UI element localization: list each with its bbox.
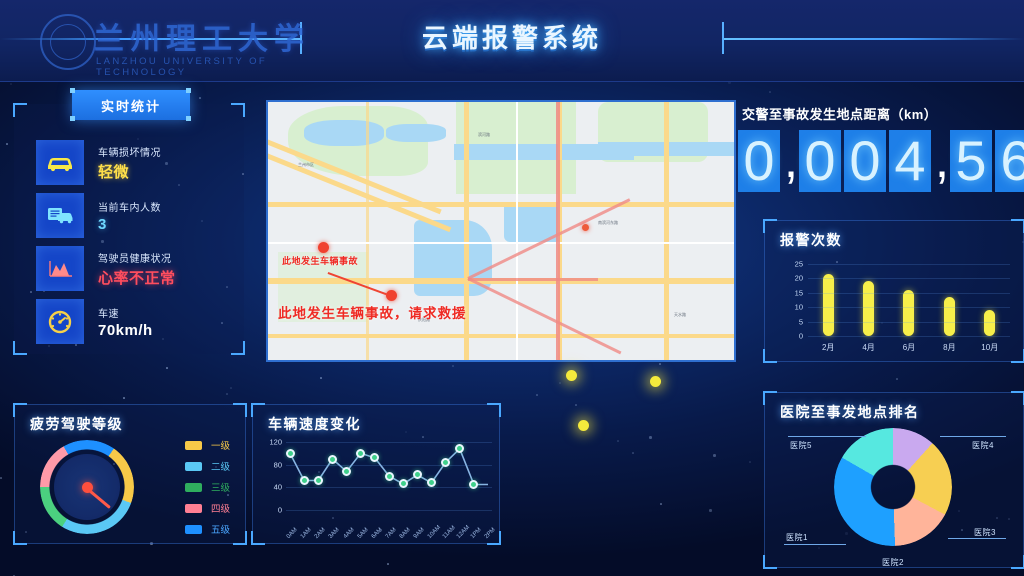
alarm-bars	[808, 264, 1010, 336]
alarm-count-panel: 报警次数 0510152025 2月4月6月8月10月	[764, 220, 1024, 362]
legend-swatch-icon	[185, 441, 202, 450]
bar-column	[984, 264, 995, 336]
x-tick-label: 12AM	[455, 525, 470, 540]
x-tick-label: 7AM	[385, 527, 398, 540]
heading-node-br	[186, 116, 191, 121]
bar	[903, 290, 914, 336]
corner-tl	[763, 219, 777, 233]
bar-column	[944, 264, 955, 336]
data-point[interactable]	[300, 476, 309, 485]
x-tick-label: 6月	[894, 342, 924, 353]
legend-swatch-icon	[185, 525, 202, 534]
y-tick-label: 5	[799, 317, 803, 326]
gridline	[808, 278, 1010, 279]
stat-row-vehicle-damage: 车辆损坏情况 轻微	[36, 138, 232, 187]
accident-pin-icon[interactable]	[386, 290, 397, 301]
x-tick-label: 6AM	[371, 527, 384, 540]
heading-node-tl	[70, 88, 75, 93]
speedometer-icon	[36, 299, 84, 344]
hospital-ranking-panel: 医院至事发地点排名 医院5 医院4 医院3 医院1 医院2	[764, 392, 1024, 568]
bar	[984, 310, 995, 336]
x-tick-label: 4月	[854, 342, 884, 353]
x-tick-label: 1PM	[470, 527, 483, 540]
distance-digits: 0,004,567	[738, 130, 1024, 192]
stat-label: 车辆损坏情况	[98, 144, 161, 159]
glow-dot-1	[566, 370, 577, 381]
map-alert-secondary: 此地发生车辆事故	[282, 254, 358, 267]
stats-rows: 车辆损坏情况 轻微 当前车内人数	[36, 138, 232, 350]
heartrate-icon	[36, 246, 84, 291]
fatigue-level-panel: 疲劳驾驶等级 一级二级三级四级五级	[14, 404, 246, 544]
gauge-hub-icon	[82, 482, 93, 493]
hospital-label-4: 医院4	[972, 440, 994, 451]
legend-label: 四级	[211, 501, 230, 515]
stat-row-driver-health: 驾驶员健康状况 心率不正常	[36, 244, 232, 293]
legend-swatch-icon	[185, 483, 202, 492]
speed-plot-area: 04080120	[286, 442, 492, 510]
corner-tr	[1011, 391, 1024, 405]
legend-label: 二级	[211, 459, 230, 473]
legend-item-3[interactable]: 三级	[185, 480, 230, 494]
stat-label: 当前车内人数	[98, 199, 161, 214]
corner-tl	[763, 391, 777, 405]
data-point[interactable]	[385, 472, 394, 481]
legend-item-2[interactable]: 二级	[185, 459, 230, 473]
stat-row-passenger-count: 当前车内人数 3	[36, 191, 232, 240]
data-point[interactable]	[441, 458, 450, 467]
y-tick-label: 80	[274, 460, 282, 469]
data-point[interactable]	[328, 455, 337, 464]
hospital-chart-title: 医院至事发地点排名	[780, 402, 920, 422]
dashboard-root: 兰州理工大学 LANZHOU UNIVERSITY OF TECHNOLOGY …	[0, 0, 1024, 576]
stat-label: 驾驶员健康状况	[98, 250, 176, 265]
legend-label: 三级	[211, 480, 230, 494]
distance-digit-3: 0	[844, 130, 886, 192]
distance-separator: ,	[783, 130, 799, 192]
corner-tr	[487, 403, 501, 417]
x-tick-label: 3AM	[328, 527, 341, 540]
corner-br	[1011, 349, 1024, 363]
distance-label: 交警至事故发生地点距离（km）	[742, 104, 937, 123]
university-name-en: LANZHOU UNIVERSITY OF TECHNOLOGY	[96, 56, 344, 78]
legend-label: 五级	[211, 522, 230, 536]
heading-node-tr	[186, 88, 191, 93]
x-tick-label: 10月	[975, 342, 1005, 353]
gridline	[286, 465, 492, 466]
legend-swatch-icon	[185, 462, 202, 471]
hospital-label-5: 医院5	[790, 440, 812, 451]
callout-line-h4	[940, 436, 1006, 437]
corner-tl	[251, 403, 265, 417]
corner-tl	[13, 403, 27, 417]
x-tick-label: 8月	[934, 342, 964, 353]
fatigue-legend: 一级二级三级四级五级	[185, 438, 230, 543]
speed-x-axis: 0AM1AM2AM3AM4AM5AM6AM7AM8AM9AM10AM11AM12…	[286, 512, 492, 540]
y-tick-label: 15	[795, 288, 803, 297]
vehicle-speed-panel: 车辆速度变化 04080120 0AM1AM2AM3AM4AM5AM6AM7AM…	[252, 404, 500, 544]
x-tick-label: 9AM	[413, 527, 426, 540]
alarm-plot-area: 0510152025	[808, 264, 1010, 336]
hospital-label-2: 医院2	[882, 557, 904, 568]
corner-tr	[231, 103, 245, 117]
corner-bl	[13, 531, 27, 545]
callout-line-h3	[948, 538, 1006, 539]
corner-tl	[13, 103, 27, 117]
y-tick-label: 20	[795, 274, 803, 283]
header-bar: 兰州理工大学 LANZHOU UNIVERSITY OF TECHNOLOGY …	[0, 0, 1024, 82]
x-tick-label: 4AM	[342, 527, 355, 540]
alarm-x-axis: 2月4月6月8月10月	[808, 342, 1010, 353]
corner-bl	[251, 531, 265, 545]
page-title: 云端报警系统	[0, 18, 1024, 55]
stat-row-speed: 车速 70km/h	[36, 297, 232, 346]
map-alert-main: 此地发生车辆事故，请求救援	[278, 302, 467, 322]
corner-tr	[233, 403, 247, 417]
stat-value: 3	[98, 216, 161, 233]
x-tick-label: 8AM	[399, 527, 412, 540]
corner-tr	[1011, 219, 1024, 233]
y-tick-label: 120	[269, 438, 282, 447]
passengers-icon	[36, 193, 84, 238]
map-marker-secondary-icon[interactable]	[582, 224, 589, 231]
corner-bl	[763, 349, 777, 363]
map-canvas[interactable]: 兰州市区 滨河路 南滨河东路 庆阳路 天水路 此地发生车辆事故 此地发生车辆事故…	[268, 102, 734, 360]
bar-column	[863, 264, 874, 336]
corner-br	[233, 531, 247, 545]
distance-separator: ,	[934, 130, 950, 192]
hospital-label-3: 医院3	[974, 527, 996, 538]
legend-label: 一级	[211, 438, 230, 452]
glow-dot-2	[650, 376, 661, 387]
legend-swatch-icon	[185, 504, 202, 513]
bar	[823, 274, 834, 336]
y-tick-label: 10	[795, 303, 803, 312]
bar	[863, 281, 874, 336]
realtime-stats-panel: 实时统计 车辆损坏情况 轻微	[14, 104, 244, 354]
distance-digit-7: 6	[995, 130, 1024, 192]
corner-br	[231, 341, 245, 355]
donut-slices	[834, 428, 952, 546]
x-tick-label: 2月	[813, 342, 843, 353]
distance-panel: 交警至事故发生地点距离（km） 0,004,567	[742, 104, 1024, 196]
bar-column	[903, 264, 914, 336]
y-tick-label: 0	[278, 506, 282, 515]
stats-heading: 实时统计	[72, 90, 190, 120]
stat-label: 车速	[98, 305, 153, 320]
fatigue-chart-title: 疲劳驾驶等级	[30, 414, 123, 434]
map-marker-nearby-icon[interactable]	[318, 242, 329, 253]
bar-column	[823, 264, 834, 336]
gridline	[808, 264, 1010, 265]
gridline	[286, 510, 492, 511]
data-point[interactable]	[286, 449, 295, 458]
gridline	[808, 322, 1010, 323]
accident-map-panel[interactable]: 兰州市区 滨河路 南滨河东路 庆阳路 天水路 此地发生车辆事故 此地发生车辆事故…	[266, 100, 736, 362]
speed-chart-title: 车辆速度变化	[268, 414, 361, 434]
legend-item-1[interactable]: 一级	[185, 438, 230, 452]
alarm-chart-title: 报警次数	[780, 230, 842, 250]
distance-digit-6: 5	[950, 130, 992, 192]
x-tick-label: 5AM	[356, 527, 369, 540]
corner-bl	[13, 341, 27, 355]
legend-item-4[interactable]: 四级	[185, 501, 230, 515]
distance-digit-2: 0	[799, 130, 841, 192]
gridline	[808, 336, 1010, 337]
gridline	[286, 487, 492, 488]
heading-node-bl	[70, 116, 75, 121]
x-tick-label: 0AM	[286, 527, 299, 540]
hospital-donut	[834, 428, 952, 546]
stat-value: 轻微	[98, 161, 161, 182]
stat-value: 心率不正常	[98, 267, 176, 288]
y-tick-label: 25	[795, 260, 803, 269]
x-tick-label: 11AM	[441, 525, 456, 540]
corner-bl	[763, 555, 777, 569]
data-point[interactable]	[342, 467, 351, 476]
distance-digit-0: 0	[738, 130, 780, 192]
gridline	[808, 307, 1010, 308]
data-point[interactable]	[356, 449, 365, 458]
hospital-label-1: 医院1	[786, 532, 808, 543]
callout-line-h5	[788, 436, 866, 437]
gridline	[286, 442, 492, 443]
x-tick-label: 1AM	[300, 527, 313, 540]
x-tick-label: 10AM	[427, 525, 442, 540]
x-tick-label: 2AM	[314, 527, 327, 540]
corner-br	[1011, 555, 1024, 569]
distance-digit-4: 4	[889, 130, 931, 192]
glow-dot-3	[578, 420, 589, 431]
stat-value: 70km/h	[98, 322, 153, 339]
car-icon	[36, 140, 84, 185]
bar	[944, 297, 955, 336]
legend-item-5[interactable]: 五级	[185, 522, 230, 536]
y-tick-label: 40	[274, 483, 282, 492]
y-tick-label: 0	[799, 332, 803, 341]
data-point[interactable]	[314, 476, 323, 485]
fatigue-gauge	[40, 440, 134, 534]
gridline	[808, 293, 1010, 294]
callout-line-h1	[784, 544, 846, 545]
